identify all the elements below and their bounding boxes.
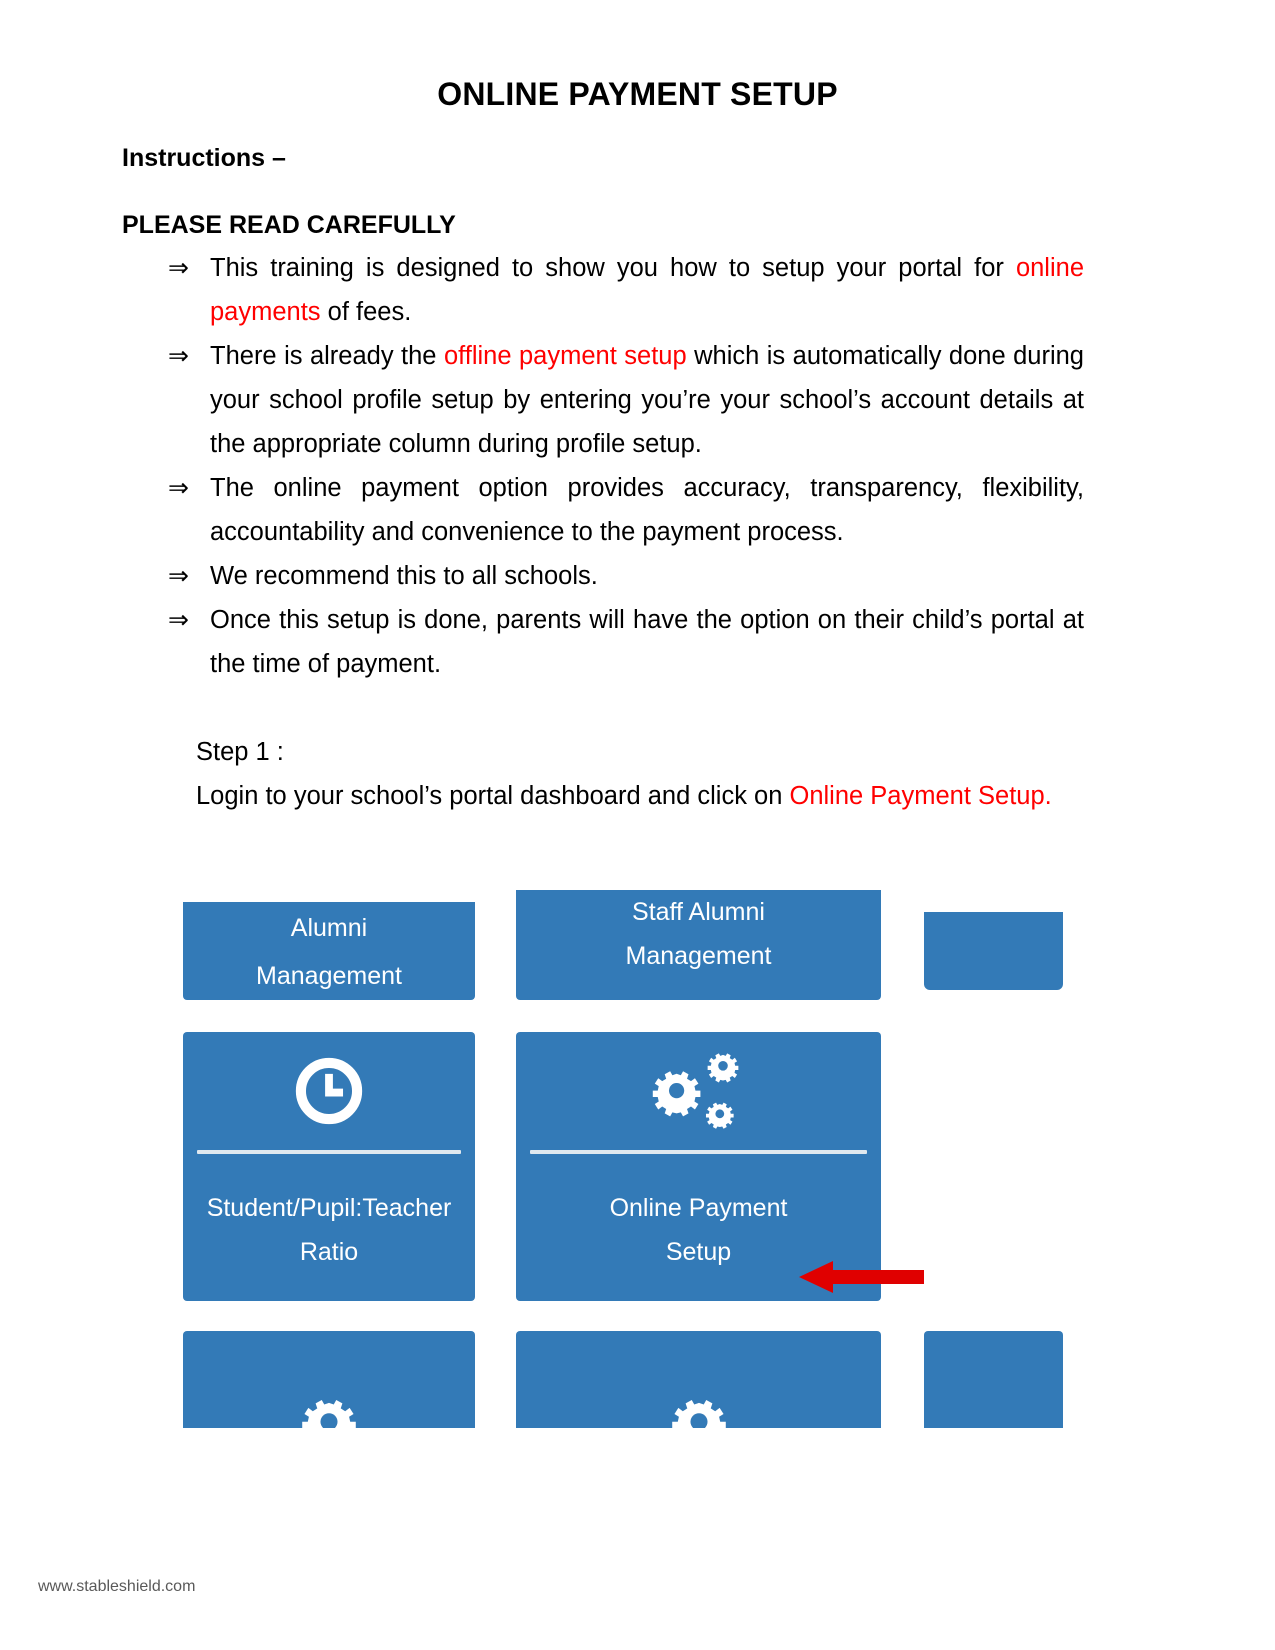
gear-icon [183,1331,475,1428]
gear-icon [516,1331,881,1428]
double-arrow-bullet-icon: ⇒ [168,334,189,378]
page-title: ONLINE PAYMENT SETUP [0,76,1275,113]
instruction-bullet-list: ⇒ This training is designed to show you … [122,246,1084,686]
instructions-section: Instructions – PLEASE READ CAREFULLY ⇒ T… [122,144,1084,686]
gears-icon [516,1032,881,1150]
tile-staff-alumni-management[interactable]: Staff Alumni Management [516,890,881,1000]
double-arrow-bullet-icon: ⇒ [168,554,189,598]
bullet-text-0-seg-0: This training is designed to show you ho… [210,254,1016,282]
document-page: ONLINE PAYMENT SETUP Instructions – PLEA… [0,0,1275,1650]
list-item: ⇒ Once this setup is done, parents will … [168,598,1084,686]
tile-partial-top-right[interactable] [924,912,1063,990]
tile-alumni-management[interactable]: Alumni Management [183,902,475,1000]
tile-text-body: Online Payment Setup [516,1154,881,1274]
step-1-label: Step 1 : [196,730,1084,774]
read-carefully-heading: PLEASE READ CAREFULLY [122,211,1084,240]
tile-label-line2: Management [183,950,475,998]
tile-student-pupil-teacher-ratio[interactable]: Student/Pupil:Teacher Ratio [183,1032,475,1301]
tile-text-body: Student/Pupil:Teacher Ratio [183,1154,475,1274]
double-arrow-bullet-icon: ⇒ [168,246,189,290]
dashboard-screenshot: Alumni Management Staff Alumni Managemen… [183,898,1063,1428]
footer-website-url: www.stableshield.com [38,1578,195,1596]
bullet-text-1-seg-1: offline payment setup [444,342,687,370]
clock-icon [183,1032,475,1150]
list-item: ⇒ The online payment option provides acc… [168,466,1084,554]
bullet-text-2-seg-0: The online payment option provides accur… [210,474,1084,546]
bullet-text-0-seg-2: of fees. [321,298,412,326]
tile-label-line1: Staff Alumni [516,890,881,934]
step-1-text-plain: Login to your school’s portal dashboard … [196,782,790,810]
tile-label-line1: Online Payment [516,1186,881,1230]
tile-partial-bottom-left[interactable] [183,1331,475,1428]
list-item: ⇒ We recommend this to all schools. [168,554,1084,598]
red-arrow-annotation-icon [799,1258,924,1296]
step-1-text-highlight: Online Payment Setup. [790,782,1052,810]
double-arrow-bullet-icon: ⇒ [168,466,189,510]
bullet-text-3-seg-0: We recommend this to all schools. [210,562,598,590]
step-1-section: Step 1 : Login to your school’s portal d… [196,730,1084,818]
tile-partial-bottom-right[interactable] [924,1331,1063,1428]
double-arrow-bullet-icon: ⇒ [168,598,189,642]
list-item: ⇒ There is already the offline payment s… [168,334,1084,466]
tile-label-line1: Alumni [183,902,475,950]
bullet-text-1-seg-0: There is already the [210,342,444,370]
tile-label-line2: Ratio [183,1230,475,1274]
list-item: ⇒ This training is designed to show you … [168,246,1084,334]
instructions-label: Instructions – [122,144,1084,173]
tile-partial-bottom-mid[interactable] [516,1331,881,1428]
step-1-text: Login to your school’s portal dashboard … [196,774,1084,818]
tile-label-line2: Management [516,934,881,978]
bullet-text-4-seg-0: Once this setup is done, parents will ha… [210,606,1084,678]
tile-label-line1: Student/Pupil:Teacher [183,1186,475,1230]
